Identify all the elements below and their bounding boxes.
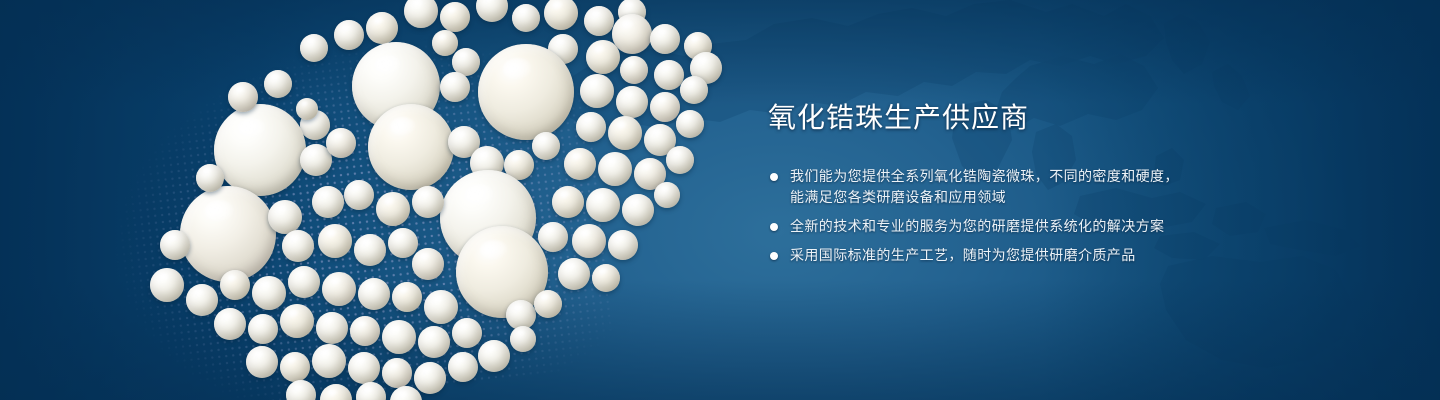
bead (160, 230, 190, 260)
bead (432, 30, 458, 56)
page-title: 氧化锆珠生产供应商 (768, 104, 1238, 132)
bead (440, 2, 470, 32)
bead (318, 224, 352, 258)
bead (286, 380, 316, 400)
bead-large (368, 104, 454, 190)
bead (354, 234, 386, 266)
bead (584, 6, 614, 36)
bead (150, 268, 184, 302)
list-item-line-2: 能满足您各类研磨设备和应用领域 (790, 187, 1238, 208)
bead (452, 318, 482, 348)
bead (440, 72, 470, 102)
bead (280, 304, 314, 338)
bead (214, 308, 246, 340)
bead (404, 0, 438, 28)
bead (586, 40, 620, 74)
bead (316, 312, 348, 344)
bead (598, 152, 632, 186)
bead (388, 228, 418, 258)
bead (620, 56, 648, 84)
bead (622, 194, 654, 226)
bead (382, 358, 412, 388)
bead (344, 180, 374, 210)
bead (650, 92, 680, 122)
bead (282, 230, 314, 262)
bead (320, 384, 352, 400)
bead (654, 182, 680, 208)
hero-banner: 氧化锆珠生产供应商 我们能为您提供全系列氧化锆陶瓷微珠，不同的密度和硬度， 能满… (0, 0, 1440, 400)
bead (532, 132, 560, 160)
bead (228, 82, 258, 112)
bead (512, 4, 540, 32)
bullet-dot-icon (770, 223, 778, 231)
bead (534, 290, 562, 318)
bead (412, 186, 444, 218)
bead (580, 74, 614, 108)
list-item: 我们能为您提供全系列氧化锆陶瓷微珠，不同的密度和硬度， 能满足您各类研磨设备和应… (768, 166, 1238, 208)
list-item: 全新的技术和专业的服务为您的研磨提供系统化的解决方案 (768, 216, 1238, 237)
bead-large (214, 104, 306, 196)
list-item: 采用国际标准的生产工艺，随时为您提供研磨介质产品 (768, 245, 1238, 266)
bead (246, 346, 278, 378)
bead (414, 362, 446, 394)
bead-large (180, 186, 276, 282)
bead (312, 344, 346, 378)
bead (676, 110, 704, 138)
bead (268, 200, 302, 234)
bullet-dot-icon (770, 252, 778, 260)
bead (382, 320, 416, 354)
bead (392, 282, 422, 312)
list-item-line-1: 采用国际标准的生产工艺，随时为您提供研磨介质产品 (790, 247, 1136, 263)
bead (366, 12, 398, 44)
bead (448, 352, 478, 382)
bead (326, 128, 356, 158)
bead (418, 326, 450, 358)
bead-large (478, 44, 574, 140)
bead (196, 164, 224, 192)
list-item-line-1: 我们能为您提供全系列氧化锆陶瓷微珠，不同的密度和硬度， (790, 168, 1179, 184)
bead (356, 382, 386, 400)
bead (348, 352, 380, 384)
bead (478, 340, 510, 372)
list-item-line-1: 全新的技术和专业的服务为您的研磨提供系统化的解决方案 (790, 218, 1164, 234)
bead (544, 0, 578, 30)
bullet-dot-icon (770, 173, 778, 181)
bead (552, 186, 584, 218)
zirconia-beads-cluster (0, 0, 760, 400)
bead (608, 230, 638, 260)
bead (288, 266, 320, 298)
bead (312, 186, 344, 218)
bead (300, 34, 328, 62)
bead (666, 146, 694, 174)
bead-large (296, 98, 318, 120)
bead (576, 112, 606, 142)
bead (376, 192, 410, 226)
bead (264, 70, 292, 98)
bead (592, 264, 620, 292)
bead (564, 148, 596, 180)
bead (220, 270, 250, 300)
bead (280, 352, 310, 382)
bead (424, 290, 458, 324)
bead (322, 272, 356, 306)
bead (538, 222, 568, 252)
bead (608, 116, 642, 150)
feature-list: 我们能为您提供全系列氧化锆陶瓷微珠，不同的密度和硬度， 能满足您各类研磨设备和应… (768, 166, 1238, 266)
bead (358, 278, 390, 310)
bead (586, 188, 620, 222)
bead (510, 326, 536, 352)
bead (186, 284, 218, 316)
bead (350, 316, 380, 346)
bead (476, 0, 508, 22)
bead (572, 224, 606, 258)
bead (650, 24, 680, 54)
bead (680, 76, 708, 104)
bead (616, 86, 648, 118)
bead (248, 314, 278, 344)
bead (558, 258, 590, 290)
banner-text-block: 氧化锆珠生产供应商 我们能为您提供全系列氧化锆陶瓷微珠，不同的密度和硬度， 能满… (768, 104, 1238, 266)
bead (252, 276, 286, 310)
bead (412, 248, 444, 280)
bead (334, 20, 364, 50)
